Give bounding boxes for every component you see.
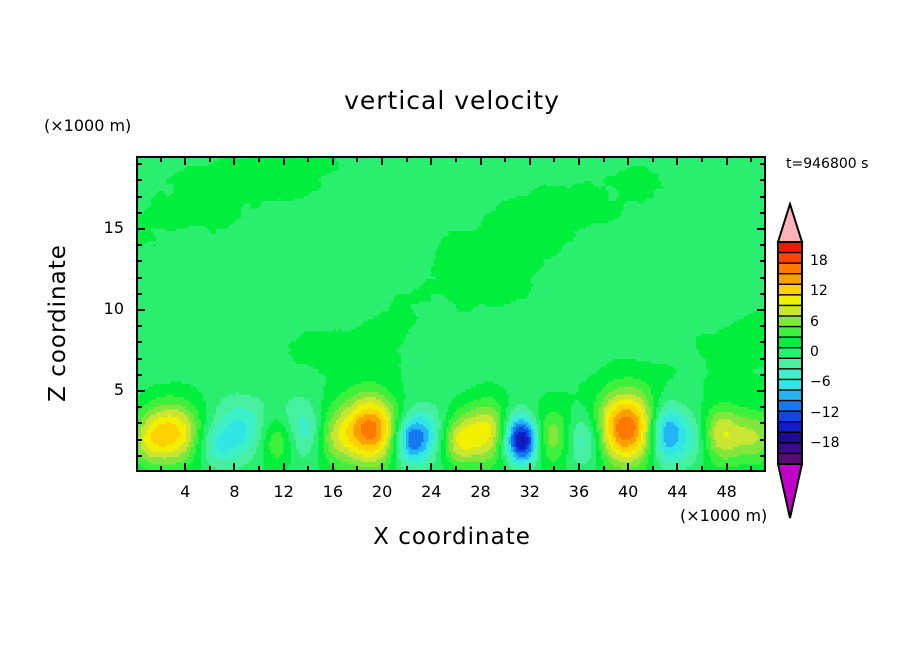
x-tick — [381, 463, 383, 472]
x-tick-top — [627, 156, 629, 165]
x-tick-top — [209, 156, 211, 162]
y-tick — [136, 341, 142, 343]
x-tick-top — [750, 156, 752, 162]
x-tick — [504, 466, 506, 472]
colorbar-tick-label: −6 — [810, 374, 831, 390]
x-tick — [627, 463, 629, 472]
colorbar-tick-label: −12 — [810, 405, 840, 421]
x-tick-top — [356, 156, 358, 162]
y-tick-right — [757, 309, 766, 311]
y-tick — [136, 309, 145, 311]
x-tick-top — [701, 156, 703, 162]
x-tick-label: 24 — [411, 482, 451, 501]
x-tick — [430, 463, 432, 472]
x-tick — [480, 463, 482, 472]
y-tick-right — [760, 277, 766, 279]
x-tick — [356, 466, 358, 472]
x-tick — [184, 463, 186, 472]
x-tick-top — [258, 156, 260, 162]
time-annotation: t=946800 s — [786, 156, 868, 172]
x-tick-label: 48 — [707, 482, 747, 501]
y-tick-right — [760, 179, 766, 181]
x-tick-label: 16 — [313, 482, 353, 501]
x-tick — [553, 466, 555, 472]
x-tick-top — [553, 156, 555, 162]
x-tick-label: 44 — [657, 482, 697, 501]
y-tick-right — [760, 244, 766, 246]
y-tick — [136, 439, 142, 441]
x-tick-top — [529, 156, 531, 165]
x-tick — [676, 463, 678, 472]
y-tick-label: 10 — [84, 299, 124, 318]
x-tick-label: 4 — [165, 482, 205, 501]
y-tick — [136, 196, 142, 198]
x-tick — [652, 466, 654, 472]
y-tick-right — [760, 260, 766, 262]
x-tick — [160, 466, 162, 472]
colorbar-tick-label: 0 — [810, 344, 819, 360]
y-axis-unit-label: (×1000 m) — [44, 116, 131, 135]
y-tick-right — [760, 196, 766, 198]
x-tick — [307, 466, 309, 472]
x-tick — [233, 463, 235, 472]
y-tick-right — [760, 439, 766, 441]
x-tick — [578, 463, 580, 472]
y-tick-right — [757, 390, 766, 392]
y-tick-right — [757, 228, 766, 230]
y-tick — [136, 455, 142, 457]
y-tick-right — [760, 422, 766, 424]
y-tick — [136, 163, 142, 165]
y-tick — [136, 179, 142, 181]
colorbar-tick-label: 12 — [810, 283, 828, 299]
y-tick — [136, 374, 142, 376]
colorbar-tick-label: 18 — [810, 253, 828, 269]
y-tick — [136, 260, 142, 262]
contour-plot-field — [136, 156, 766, 472]
x-tick-label: 12 — [264, 482, 304, 501]
y-tick — [136, 422, 142, 424]
y-axis-title: Z coordinate — [45, 213, 71, 433]
colorbar: 181260−6−12−18 — [770, 202, 830, 524]
x-tick-top — [381, 156, 383, 165]
x-tick-top — [332, 156, 334, 165]
x-tick-label: 8 — [214, 482, 254, 501]
x-tick-top — [504, 156, 506, 162]
x-axis-unit-label: (×1000 m) — [680, 506, 767, 525]
x-tick — [258, 466, 260, 472]
x-tick — [283, 463, 285, 472]
x-tick-top — [406, 156, 408, 162]
colorbar-tick-label: −18 — [810, 435, 840, 451]
x-tick-top — [283, 156, 285, 165]
y-tick-label: 15 — [84, 218, 124, 237]
y-tick — [136, 277, 142, 279]
x-tick-label: 40 — [608, 482, 648, 501]
x-tick — [455, 466, 457, 472]
y-tick — [136, 244, 142, 246]
x-tick-top — [603, 156, 605, 162]
x-tick — [209, 466, 211, 472]
y-tick — [136, 325, 142, 327]
y-tick-right — [760, 455, 766, 457]
x-tick-top — [726, 156, 728, 165]
x-tick — [750, 466, 752, 472]
colorbar-tick-label: 6 — [810, 314, 819, 330]
x-tick-top — [307, 156, 309, 162]
y-tick — [136, 358, 142, 360]
y-tick-right — [760, 358, 766, 360]
x-tick-top — [652, 156, 654, 162]
y-tick-right — [760, 293, 766, 295]
y-tick-right — [760, 212, 766, 214]
x-tick-top — [184, 156, 186, 165]
x-tick-top — [455, 156, 457, 162]
y-tick — [136, 212, 142, 214]
chart-title: vertical velocity — [0, 86, 904, 115]
y-tick — [136, 390, 145, 392]
y-tick — [136, 228, 145, 230]
x-tick — [701, 466, 703, 472]
x-tick-label: 20 — [362, 482, 402, 501]
x-tick — [529, 463, 531, 472]
y-tick-right — [760, 374, 766, 376]
x-tick — [406, 466, 408, 472]
x-tick-top — [480, 156, 482, 165]
x-tick — [603, 466, 605, 472]
y-tick — [136, 406, 142, 408]
x-tick-label: 32 — [510, 482, 550, 501]
x-tick-top — [578, 156, 580, 165]
x-tick — [726, 463, 728, 472]
y-tick-right — [760, 163, 766, 165]
y-tick — [136, 293, 142, 295]
x-tick — [332, 463, 334, 472]
y-tick-label: 5 — [84, 380, 124, 399]
x-tick-top — [430, 156, 432, 165]
x-tick-top — [676, 156, 678, 165]
x-tick-label: 28 — [461, 482, 501, 501]
y-tick-right — [760, 406, 766, 408]
x-tick-top — [160, 156, 162, 162]
y-tick-right — [760, 325, 766, 327]
x-tick-top — [233, 156, 235, 165]
x-tick-label: 36 — [559, 482, 599, 501]
x-axis-title: X coordinate — [0, 524, 904, 550]
y-tick-right — [760, 341, 766, 343]
